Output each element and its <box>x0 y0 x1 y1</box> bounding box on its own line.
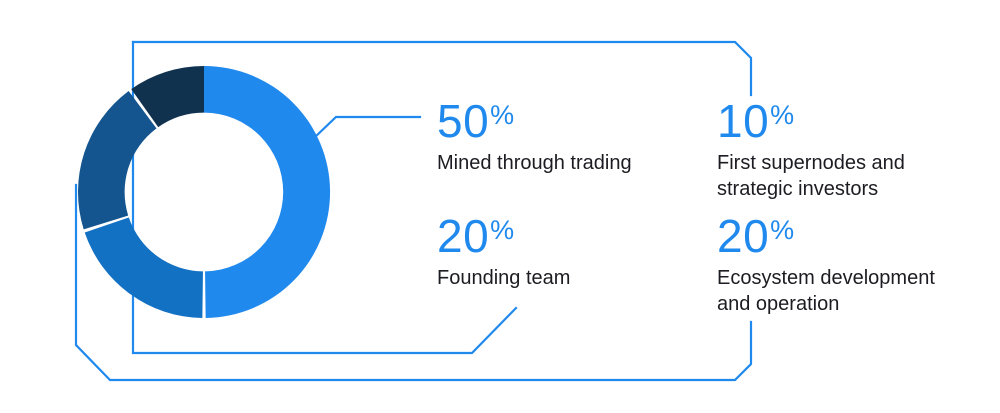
legend-percent-mined-through-trading: 50% <box>437 98 632 144</box>
legend-description-ecosystem-development: Ecosystem development and operation <box>717 266 935 317</box>
percent-sign-icon: % <box>490 100 515 130</box>
token-allocation-infographic: 50% Mined through trading 10% First supe… <box>0 0 1000 413</box>
percent-sign-icon: % <box>490 215 515 245</box>
percent-sign-icon: % <box>770 215 795 245</box>
legend-item-mined-through-trading[interactable]: 50% Mined through trading <box>437 98 632 177</box>
legend-description-founding-team: Founding team <box>437 266 570 292</box>
legend-percent-founding-team: 20% <box>437 213 570 259</box>
legend-item-ecosystem-development-and-operation[interactable]: 20% Ecosystem development and operation <box>717 213 935 317</box>
legend-item-founding-team[interactable]: 20% Founding team <box>437 213 570 292</box>
legend-description-first-supernodes: First supernodes and strategic investors <box>717 151 905 202</box>
legend-description-mined-through-trading: Mined through trading <box>437 151 632 177</box>
legend-percent-value: 20 <box>437 210 489 262</box>
legend-item-first-supernodes-and-strategic-investors[interactable]: 10% First supernodes and strategic inves… <box>717 98 905 202</box>
percent-sign-icon: % <box>770 100 795 130</box>
legend-percent-value: 20 <box>717 210 769 262</box>
legend: 50% Mined through trading 10% First supe… <box>0 0 1000 413</box>
legend-percent-value: 50 <box>437 95 489 147</box>
legend-percent-first-supernodes: 10% <box>717 98 905 144</box>
legend-percent-value: 10 <box>717 95 769 147</box>
legend-percent-ecosystem-development: 20% <box>717 213 935 259</box>
